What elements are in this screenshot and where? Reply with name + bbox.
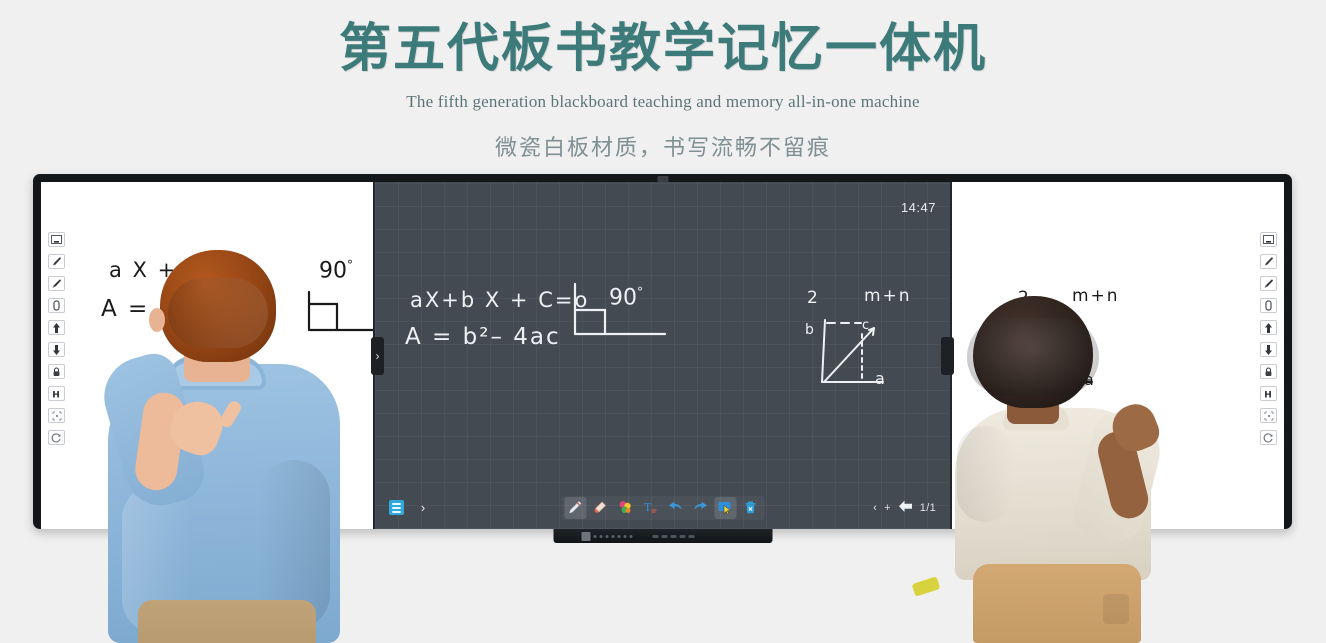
toolbar-page-nav: ‹ + 1/1: [873, 500, 936, 516]
rail-item-magnet-icon[interactable]: H: [48, 386, 65, 401]
eraser-tool-icon[interactable]: [589, 497, 611, 519]
rail-item-arrow-up-icon[interactable]: [48, 320, 65, 335]
base-port: [606, 535, 609, 538]
blackboard-vector-label-left: 2: [807, 288, 818, 308]
blackboard-toolbar: › T: [375, 495, 950, 520]
toolbar-expand-button[interactable]: ›: [412, 497, 434, 519]
page-add-button[interactable]: +: [884, 502, 891, 514]
woman-pocket: [1103, 594, 1129, 624]
all-in-one-device: H a X + x + c A = b – 4ac 90°: [33, 174, 1292, 529]
pen-tool-icon[interactable]: [564, 497, 586, 519]
page-root: 第五代板书教学记忆一体机 The fifth generation blackb…: [0, 0, 1326, 643]
whiteboard-left-equation-line2: A = b – 4ac: [101, 296, 255, 322]
whiteboard-right-vector-label-left: 2: [1018, 288, 1029, 308]
whiteboard-right[interactable]: H 2 m+n b a c: [950, 182, 1284, 529]
rail-item-pen-icon[interactable]: [48, 254, 65, 269]
base-port: [594, 535, 597, 538]
rail-item-arrow-down-icon[interactable]: [1260, 342, 1277, 357]
rail-item-eraser-icon[interactable]: [48, 298, 65, 313]
rail-item-refresh-icon[interactable]: [1260, 430, 1277, 445]
header: 第五代板书教学记忆一体机 The fifth generation blackb…: [0, 0, 1326, 162]
base-control-icon: [582, 532, 591, 541]
rail-item-screen-icon[interactable]: [48, 232, 65, 247]
svg-text:H: H: [52, 390, 60, 399]
whiteboard-right-vector-diagram: [1020, 312, 1112, 390]
base-slot: [671, 535, 677, 538]
rail-item-grid-icon[interactable]: [1260, 408, 1277, 423]
toolbar-left-group: ›: [385, 497, 434, 519]
base-port: [618, 535, 621, 538]
undo-icon[interactable]: [664, 497, 686, 519]
rail-item-lock-icon[interactable]: [1260, 364, 1277, 379]
man-trousers: [138, 600, 316, 643]
back-arrow-icon[interactable]: [898, 500, 913, 516]
blackboard-equation-line2: A = b²– 4ac: [405, 324, 561, 350]
clock-display: 14:47: [901, 200, 936, 215]
text-tool-icon[interactable]: T: [639, 497, 661, 519]
whiteboard-left[interactable]: H a X + x + c A = b – 4ac 90°: [41, 182, 375, 529]
blackboard-angle-diagram: [553, 282, 673, 354]
rail-item-refresh-icon[interactable]: [48, 430, 65, 445]
page-prev-button[interactable]: ‹: [873, 502, 877, 514]
rail-item-arrow-down-icon[interactable]: [48, 342, 65, 357]
trash-icon[interactable]: [739, 497, 761, 519]
page-indicator: 1/1: [920, 502, 936, 514]
whiteboard-right-vector-label-top: m+n: [1072, 286, 1120, 306]
blackboard-center[interactable]: 14:47 aX+b X + C=o A = b²– 4ac 90° 2 m+n…: [375, 182, 950, 529]
rail-item-grid-icon[interactable]: [48, 408, 65, 423]
angle-value: 90: [319, 258, 347, 283]
blackboard-vector-diagram: [811, 312, 903, 390]
svg-text:H: H: [1264, 390, 1272, 399]
rail-item-marker-icon[interactable]: [48, 276, 65, 291]
side-rail-left: H: [48, 232, 65, 445]
woman-trousers: [973, 564, 1141, 643]
rail-item-marker-icon[interactable]: [1260, 276, 1277, 291]
divider-handle-right[interactable]: [941, 337, 954, 375]
whiteboard-left-angle-label: 90°: [319, 258, 353, 283]
woman-marker-pen: [912, 576, 941, 596]
whiteboard-left-angle-diagram: [285, 290, 375, 346]
screen-group: H a X + x + c A = b – 4ac 90°: [41, 182, 1284, 529]
rail-item-lock-icon[interactable]: [48, 364, 65, 379]
device-base-panel: [554, 529, 773, 543]
list-icon-shape: [389, 500, 404, 515]
toolbar-tools-group: T: [561, 496, 764, 520]
angle-unit: °: [347, 258, 353, 272]
rail-item-pen-icon[interactable]: [1260, 254, 1277, 269]
page-title: 第五代板书教学记忆一体机: [0, 0, 1326, 76]
page-subtitle: The fifth generation blackboard teaching…: [0, 92, 1326, 112]
base-port: [612, 535, 615, 538]
side-rail-right: H: [1260, 232, 1277, 445]
rail-item-screen-icon[interactable]: [1260, 232, 1277, 247]
redo-icon[interactable]: [689, 497, 711, 519]
svg-text:T: T: [644, 501, 652, 514]
base-port: [624, 535, 627, 538]
divider-handle-left[interactable]: ›: [371, 337, 384, 375]
rail-item-arrow-up-icon[interactable]: [1260, 320, 1277, 335]
rail-item-magnet-icon[interactable]: H: [1260, 386, 1277, 401]
whiteboard-left-equation-line1: a X + x + c: [109, 258, 251, 282]
rail-item-eraser-icon[interactable]: [1260, 298, 1277, 313]
page-tagline: 微瓷白板材质，书写流畅不留痕: [0, 130, 1326, 162]
base-slot: [662, 535, 668, 538]
base-port: [600, 535, 603, 538]
base-slot: [689, 535, 695, 538]
blackboard-vector-label-top: m+n: [864, 286, 912, 306]
base-slot: [680, 535, 686, 538]
palette-icon[interactable]: [614, 497, 636, 519]
menu-list-icon[interactable]: [385, 497, 407, 519]
base-port: [630, 535, 633, 538]
base-slot: [653, 535, 659, 538]
select-icon[interactable]: [714, 497, 736, 519]
